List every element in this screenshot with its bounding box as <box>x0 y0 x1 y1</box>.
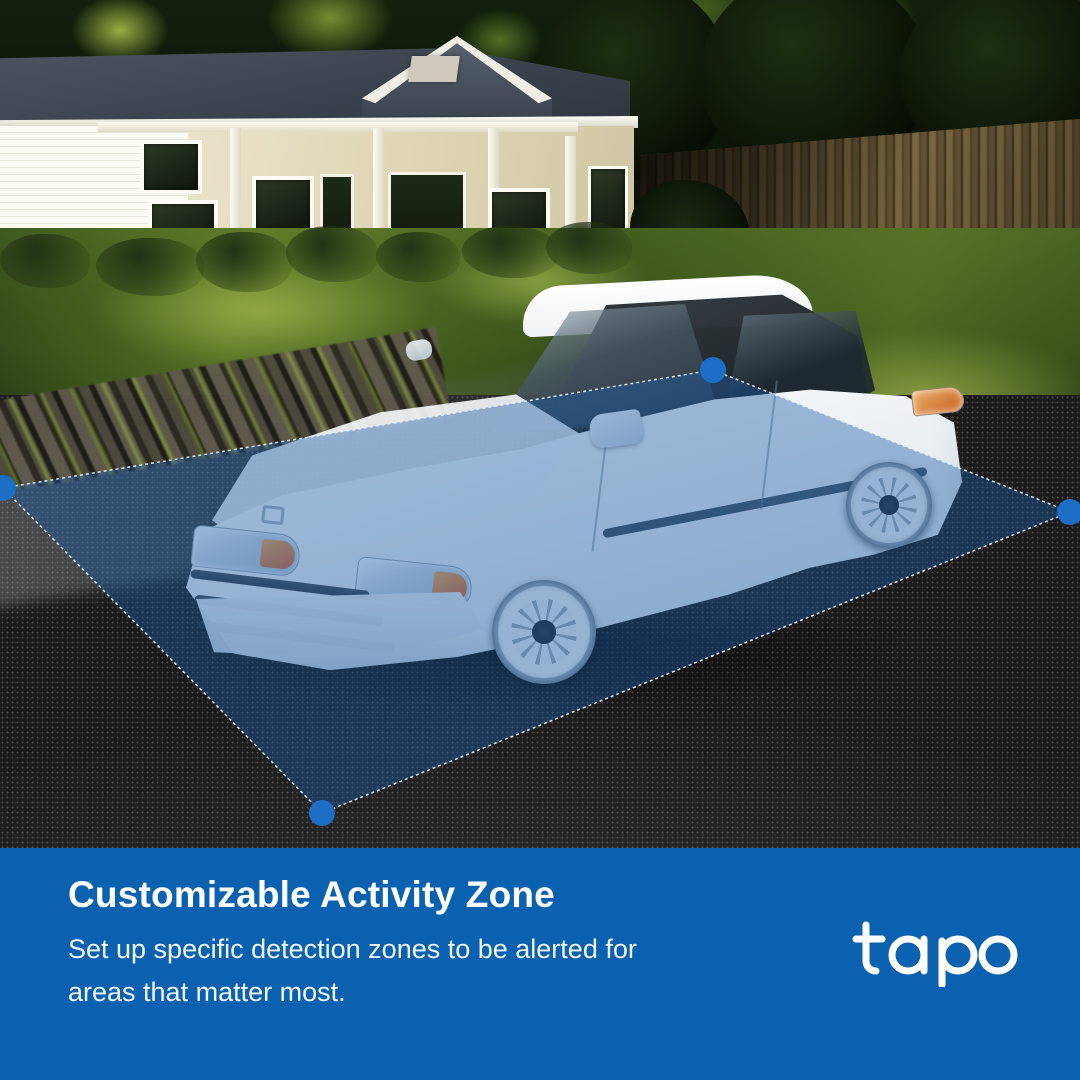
banner-subtitle-line2: areas that matter most. <box>68 977 346 1007</box>
banner-title: Customizable Activity Zone <box>68 874 555 916</box>
front-wheel <box>492 580 596 684</box>
turn-signal <box>259 539 296 570</box>
camera-live-view[interactable] <box>0 0 1080 848</box>
banner-subtitle: Set up specific detection zones to be al… <box>68 928 798 1014</box>
white-sedan-car <box>170 262 970 712</box>
shrub <box>0 234 90 288</box>
side-mirror-far <box>404 338 433 362</box>
honda-badge <box>261 505 285 525</box>
house-window <box>140 140 202 194</box>
banner-subtitle-line1: Set up specific detection zones to be al… <box>68 934 637 964</box>
taillight <box>911 385 965 416</box>
activity-zone-promo-screen: Customizable Activity Zone Set up specif… <box>0 0 1080 1080</box>
gable-vent <box>408 56 460 82</box>
porch-beam <box>98 122 578 132</box>
house-window <box>252 176 314 234</box>
side-mirror-near <box>588 409 644 450</box>
rear-wheel <box>846 462 932 548</box>
tapo-logo <box>852 915 1022 987</box>
